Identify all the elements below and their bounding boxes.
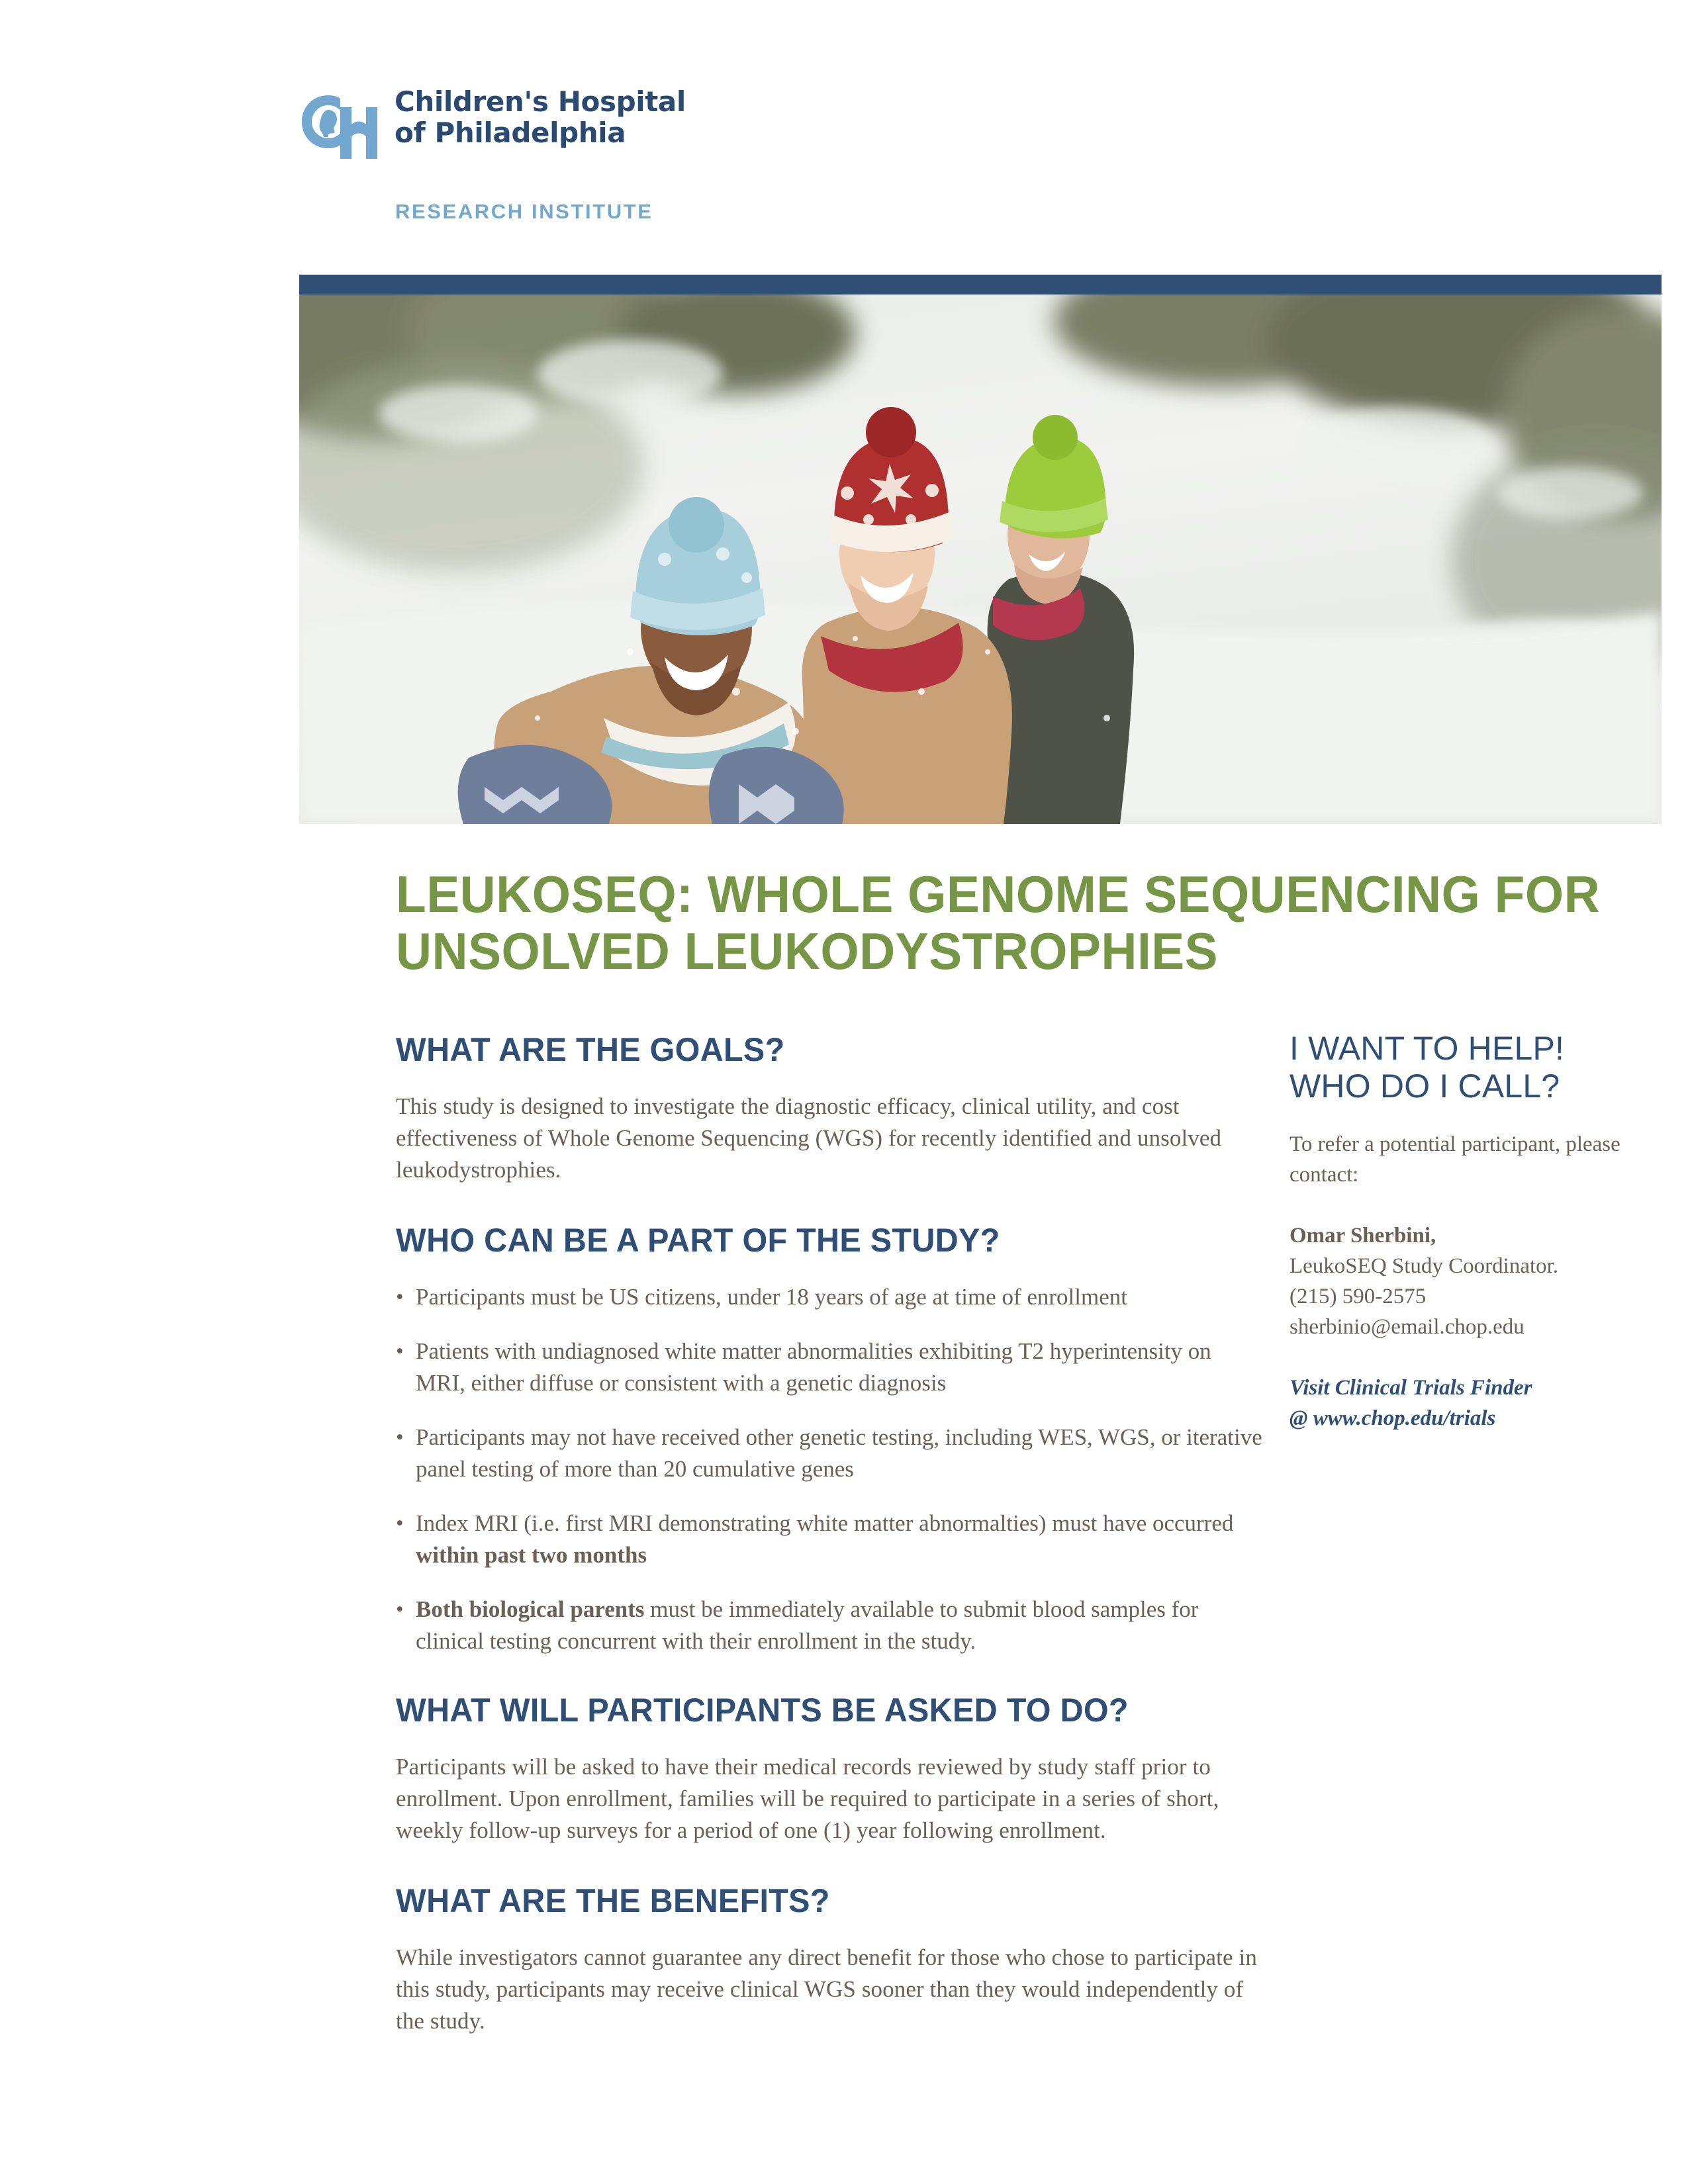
trials-line-1: Visit Clinical Trials Finder bbox=[1289, 1376, 1532, 1400]
list-item: Both biological parents must be immediat… bbox=[396, 1594, 1263, 1657]
list-item: Patients with undiagnosed white matter a… bbox=[396, 1336, 1263, 1399]
contact-intro: To refer a potential participant, please… bbox=[1289, 1129, 1660, 1190]
section-body-benefits: While investigators cannot guarantee any… bbox=[396, 1942, 1263, 2037]
logo-line-2: of Philadelphia bbox=[395, 117, 686, 148]
flyer-page: Children's Hospital of Philadelphia RESE… bbox=[0, 0, 1688, 2184]
main-content-column: WHAT ARE THE GOALS? This study is design… bbox=[396, 1031, 1263, 2077]
contact-role: LeukoSEQ Study Coordinator. bbox=[1289, 1254, 1558, 1278]
contact-heading: I WANT TO HELP! WHO DO I CALL? bbox=[1289, 1030, 1660, 1105]
list-item: Index MRI (i.e. first MRI demonstrating … bbox=[396, 1508, 1263, 1571]
clinical-trials-link[interactable]: Visit Clinical Trials Finder @ www.chop.… bbox=[1289, 1373, 1660, 1433]
eligibility-bullet-list: Participants must be US citizens, under … bbox=[396, 1281, 1263, 1657]
section-heading-goals: WHAT ARE THE GOALS? bbox=[396, 1031, 1237, 1068]
list-item: Participants may not have received other… bbox=[396, 1422, 1263, 1485]
chop-logo: Children's Hospital of Philadelphia bbox=[299, 86, 686, 164]
contact-details: Omar Sherbini, LeukoSEQ Study Coordinato… bbox=[1289, 1220, 1660, 1342]
section-heading-eligibility: WHO CAN BE A PART OF THE STUDY? bbox=[396, 1222, 1237, 1259]
logo-subtitle-research-institute: RESEARCH INSTITUTE bbox=[395, 200, 653, 224]
section-heading-benefits: WHAT ARE THE BENEFITS? bbox=[396, 1882, 1237, 1919]
section-heading-participation: WHAT WILL PARTICIPANTS BE ASKED TO DO? bbox=[396, 1692, 1237, 1729]
logo-line-1: Children's Hospital bbox=[395, 86, 686, 117]
list-item: Participants must be US citizens, under … bbox=[396, 1281, 1263, 1313]
page-title: LEUKOSEQ: WHOLE GENOME SEQUENCING FOR UN… bbox=[396, 866, 1603, 979]
chop-child-silhouette-logo-icon bbox=[299, 93, 377, 164]
contact-email[interactable]: sherbinio@email.chop.edu bbox=[1289, 1315, 1524, 1339]
section-body-participation: Participants will be asked to have their… bbox=[396, 1751, 1263, 1846]
chop-logo-text: Children's Hospital of Philadelphia bbox=[395, 86, 686, 148]
hero-photo-children-in-snow bbox=[299, 295, 1662, 824]
contact-phone[interactable]: (215) 590-2575 bbox=[1289, 1285, 1426, 1308]
header-blue-bar bbox=[299, 275, 1662, 295]
trials-line-2: @ www.chop.edu/trials bbox=[1289, 1406, 1495, 1430]
section-body-goals: This study is designed to investigate th… bbox=[396, 1091, 1263, 1186]
contact-sidebar: I WANT TO HELP! WHO DO I CALL? To refer … bbox=[1289, 1030, 1660, 1433]
contact-heading-line1: I WANT TO HELP! bbox=[1289, 1030, 1564, 1067]
contact-heading-line2: WHO DO I CALL? bbox=[1289, 1068, 1560, 1105]
contact-name: Omar Sherbini, bbox=[1289, 1224, 1436, 1248]
